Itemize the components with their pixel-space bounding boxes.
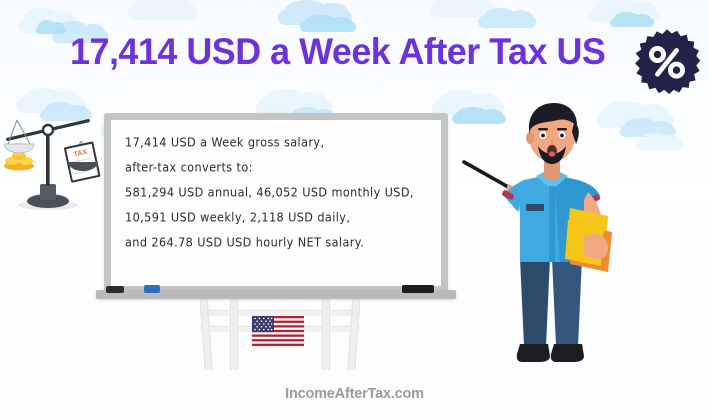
eraser-icon [106, 286, 124, 293]
cloud-icon [128, 6, 198, 20]
left-eyebrow [538, 128, 548, 130]
stand-leg-inner-right [322, 296, 330, 370]
blue-marker-icon [144, 285, 160, 293]
right-shoe [551, 344, 584, 362]
cloud-icon [36, 26, 66, 34]
whiteboard-line-1: 17,414 USD a Week gross salary, [125, 134, 424, 150]
page-title: 17,414 USD a Week After Tax US [70, 26, 613, 78]
whiteboard-surface: 17,414 USD a Week gross salary, after-ta… [111, 120, 441, 286]
left-leg [520, 258, 550, 346]
whiteboard-stand [190, 296, 370, 370]
shirt-placket [549, 186, 555, 262]
stand-leg-right [347, 296, 360, 370]
whiteboard: 17,414 USD a Week gross salary, after-ta… [104, 113, 448, 293]
stand-leg-left [199, 296, 212, 370]
scale-base-block [40, 184, 56, 200]
shirt-pocket [526, 204, 544, 211]
infographic-canvas: 17,414 USD a Week After Tax US [0, 0, 709, 419]
black-marker-icon [402, 285, 434, 293]
scale-pivot [43, 125, 53, 135]
whiteboard-line-4: 10,591 USD weekly, 2,118 USD daily, [125, 209, 424, 225]
scale-left-strings [8, 120, 30, 144]
cloud-icon [610, 18, 654, 27]
ear [526, 132, 534, 144]
whiteboard-line-2: after-tax converts to: [125, 159, 424, 175]
us-flag-icon [252, 316, 304, 346]
right-leg [552, 258, 582, 346]
whiteboard-line-5: and 264.78 USD USD hourly NET salary. [125, 234, 424, 250]
site-footer: IncomeAfterTax.com [0, 386, 709, 402]
stand-leg-inner-left [230, 296, 238, 370]
percent-badge [633, 28, 701, 96]
teacher-presenter-illustration [462, 100, 622, 368]
marker-tray [96, 290, 456, 299]
right-eyebrow [557, 128, 567, 130]
pointer-stick-icon [464, 162, 510, 188]
balance-scale-illustration: TAX [2, 104, 108, 212]
whiteboard-line-3: 581,294 USD annual, 46,052 USD monthly U… [125, 184, 424, 200]
left-shoe [517, 344, 550, 362]
scale-left-pan [4, 144, 34, 153]
cloud-icon [636, 140, 684, 150]
